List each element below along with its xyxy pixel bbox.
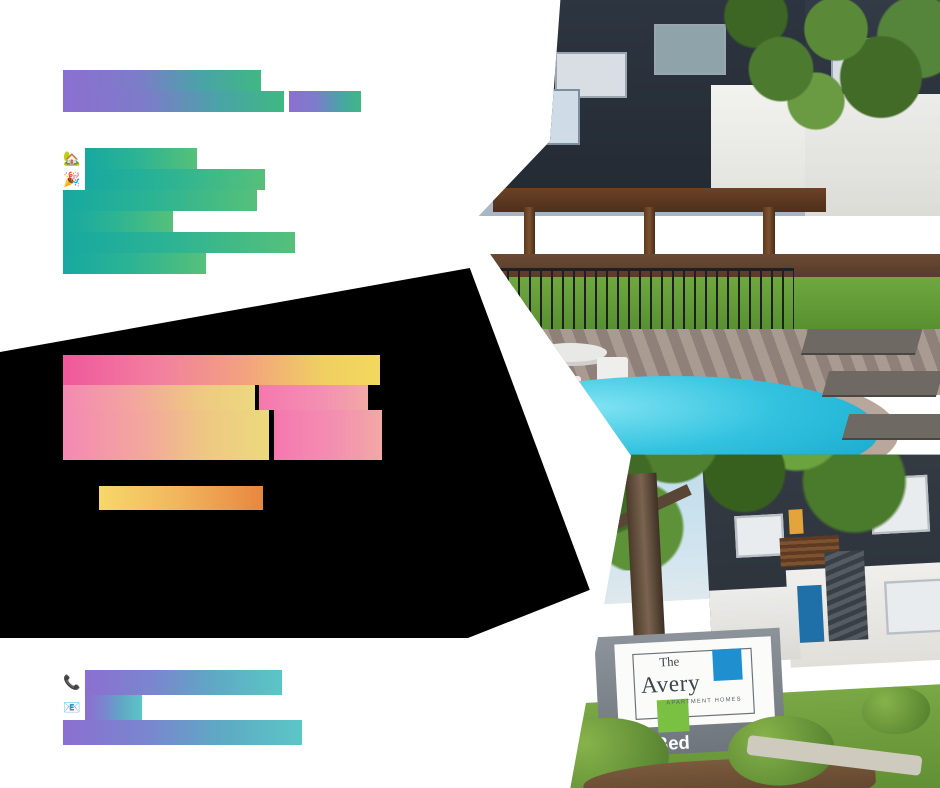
floor-plans-title: AVAILABLE FLOOR PLANS: [63, 355, 380, 385]
offer-line-3: WHEN YOUR FIRST 2 MONTHS: [63, 232, 295, 253]
email-row[interactable]: 📧 Email:: [63, 695, 403, 720]
party-popper-icon: 🎉: [63, 172, 80, 188]
floor-plan-item: 2 Bed / 2 Bath – 1,050 sq ft $1,550/mont…: [63, 410, 403, 435]
address-line-2: TX, 76022: [289, 91, 361, 112]
lounge-chair: [822, 371, 940, 395]
wall-plaque: [524, 89, 580, 145]
patio-chair: [550, 376, 581, 409]
offer-line-1: GET 1 MONTH FREE (3RD: [63, 190, 257, 211]
schedule-a-visit-button[interactable]: Schedule a Visit: [99, 486, 263, 510]
move-in-special-row: 🎉 NEW MOVE-IN SPECIAL: [63, 169, 363, 190]
offer-line-2: MONTH RENT): [63, 211, 173, 232]
email-address-link[interactable]: theavery@touchstonepm.com: [63, 720, 302, 745]
email-label: Email:: [85, 695, 142, 720]
move-in-special-label: NEW MOVE-IN SPECIAL: [85, 169, 265, 190]
floor-plan-price: $1,700/month: [274, 435, 383, 460]
blue-entry-door: [797, 585, 824, 643]
stairway: [824, 550, 868, 641]
lounge-chair: [801, 329, 922, 353]
pergola-roof: [493, 188, 826, 212]
now-leasing-label: NOW LEASING: [85, 148, 197, 169]
floor-plan-spec: 3 Bed / 2 Bath – 1,250 sq ft: [63, 435, 269, 460]
floor-plans-section: AVAILABLE FLOOR PLANS 2 Bed / 1 Bath – 9…: [63, 355, 403, 510]
property-heading: THE AVERY APARTMENTS 531 BEDFORD RD. BED…: [63, 70, 363, 112]
floor-plan-item: 2 Bed / 1 Bath – 950 sq ft $1,400/month: [63, 385, 403, 410]
email-icon: 📧: [63, 700, 80, 716]
phone-icon: 📞: [63, 675, 80, 691]
window: [884, 578, 940, 635]
signage-photo-scene: The Avery APARTMENT HOMES 1 Bed: [520, 440, 940, 788]
floor-plan-price: $1,400/month: [259, 385, 368, 410]
floor-plan-spec: 2 Bed / 1 Bath – 950 sq ft: [63, 385, 255, 410]
page-title: THE AVERY APARTMENTS: [63, 70, 261, 91]
now-leasing-row: 🏡 NOW LEASING: [63, 148, 363, 169]
phone-row[interactable]: 📞 Call Today: 682-900-2155: [63, 670, 403, 695]
contact-section: 📞 Call Today: 682-900-2155 📧 Email: thea…: [63, 670, 403, 745]
address-line-1: 531 BEDFORD RD. BEDFORD: [63, 91, 284, 112]
sign-avery-text: Avery: [640, 670, 700, 700]
tree-canopy: [706, 0, 940, 141]
house-with-garden-icon: 🏡: [63, 151, 80, 167]
phone-number-link[interactable]: Call Today: 682-900-2155: [85, 670, 282, 695]
floor-plan-price: $1,550/month: [274, 410, 383, 435]
property-signage-photo: The Avery APARTMENT HOMES 1 Bed: [520, 440, 940, 788]
apartment-leasing-flyer: The Avery APARTMENT HOMES 1 Bed THE AVER…: [0, 0, 940, 788]
lounge-chair: [843, 414, 940, 438]
oak-tree-canopy: [520, 440, 912, 576]
floor-plan-item: 3 Bed / 2 Bath – 1,250 sq ft $1,700/mont…: [63, 435, 403, 460]
sign-the-text: The: [659, 655, 680, 670]
logo-blue-square: [712, 648, 743, 682]
floor-plan-spec: 2 Bed / 2 Bath – 1,050 sq ft: [63, 410, 269, 435]
promo-section: 🏡 NOW LEASING 🎉 NEW MOVE-IN SPECIAL GET …: [63, 148, 363, 274]
offer-line-4: ARE PAID ON TIME: [63, 253, 206, 274]
